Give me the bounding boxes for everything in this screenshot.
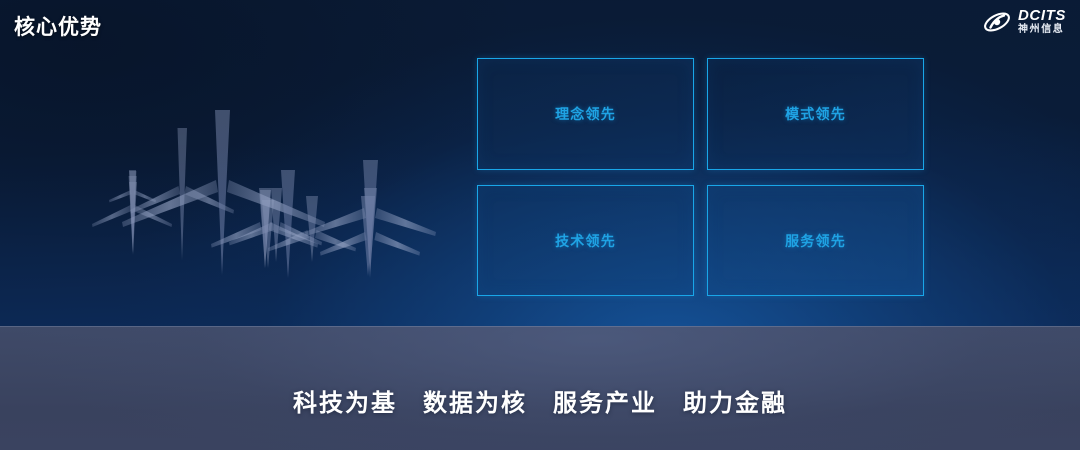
logo-text-block: DCITS 神州信息 bbox=[1018, 8, 1066, 35]
dcits-swoosh-icon bbox=[982, 9, 1012, 35]
advantage-box-1[interactable]: 理念领先 bbox=[477, 58, 694, 170]
tower-12 bbox=[305, 160, 436, 278]
advantage-box-2[interactable]: 模式领先 bbox=[707, 58, 924, 170]
advantage-label-3: 技术领先 bbox=[555, 231, 616, 251]
advantage-box-grid: 理念领先 模式领先 技术领先 服务领先 bbox=[477, 58, 924, 296]
tower-3-tall bbox=[122, 110, 325, 275]
slide-canvas: 核心优势 DCITS 神州信息 理念领先 模式领先 技术领先 服务领先 科技为基… bbox=[0, 0, 1080, 450]
advantage-box-4[interactable]: 服务领先 bbox=[707, 185, 924, 296]
tower-9 bbox=[211, 188, 318, 268]
horizon-line bbox=[0, 326, 1080, 327]
tagline: 科技为基 数据为核 服务产业 助力金融 bbox=[0, 383, 1080, 418]
logo-text-en: DCITS bbox=[1018, 8, 1066, 23]
logo-text-cn: 神州信息 bbox=[1018, 25, 1066, 35]
advantage-label-4: 服务领先 bbox=[785, 231, 846, 251]
page-title: 核心优势 bbox=[14, 11, 102, 41]
advantage-label-1: 理念领先 bbox=[555, 104, 616, 124]
advantage-box-3[interactable]: 技术领先 bbox=[477, 185, 694, 296]
advantage-label-2: 模式领先 bbox=[785, 104, 846, 124]
brand-logo: DCITS 神州信息 bbox=[982, 8, 1066, 35]
